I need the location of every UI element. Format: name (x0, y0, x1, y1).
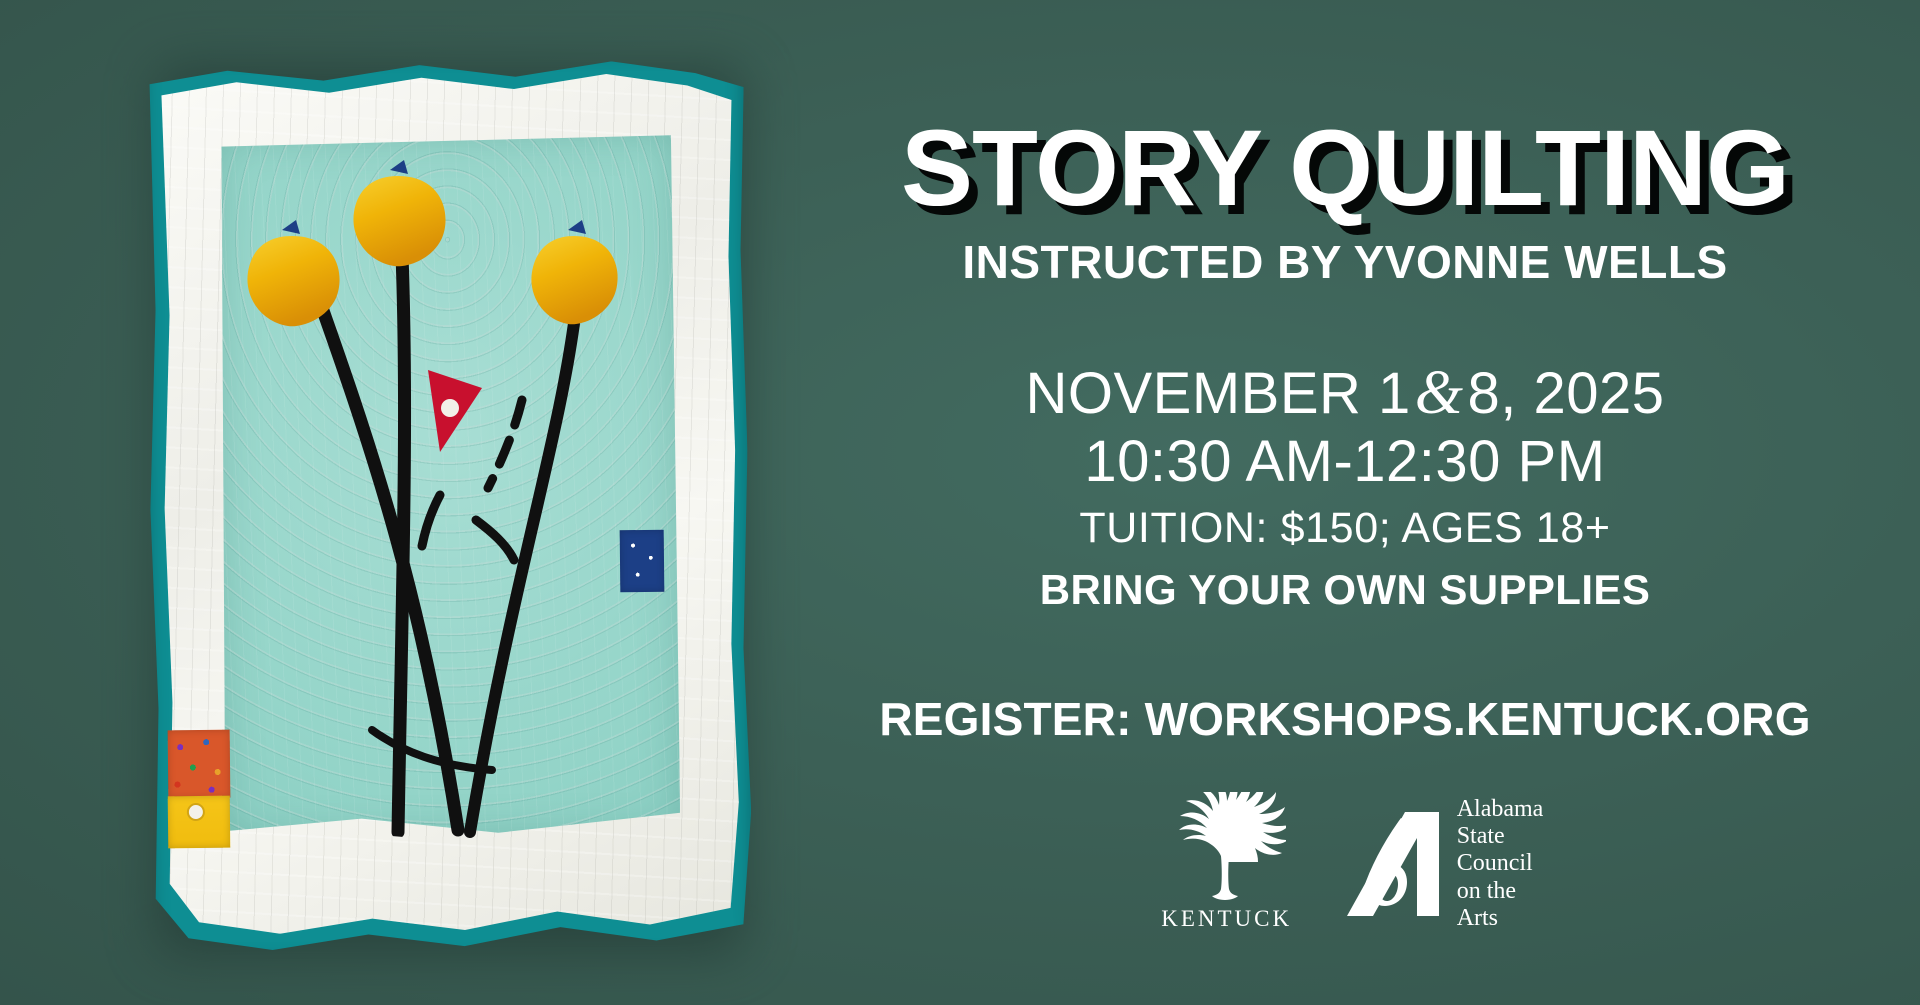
asca-wordmark: Alabama State Council on the Arts (1457, 796, 1544, 933)
quilt-stems (320, 255, 576, 832)
tuition-line: TUITION: $150; AGES 18+ (830, 503, 1860, 555)
asca-line-2: State (1457, 823, 1544, 850)
asca-line-3: Council (1457, 850, 1544, 877)
poster-canvas: STORY QUILTING INSTRUCTED BY YVONNE WELL… (0, 0, 1920, 1005)
date-suffix: 8, 2025 (1468, 361, 1665, 426)
kentuck-wordmark: KENTUCK (1161, 906, 1292, 932)
supplies-line: BRING YOUR OWN SUPPLIES (830, 566, 1860, 614)
workshop-details: NOVEMBER 1&8, 2025 10:30 AM-12:30 PM TUI… (830, 358, 1860, 614)
time-line: 10:30 AM-12:30 PM (830, 429, 1860, 495)
page-title: STORY QUILTING (830, 0, 1860, 220)
asca-monogram-icon (1343, 808, 1447, 920)
quilt-red-triangle (428, 370, 482, 452)
date-line: NOVEMBER 1&8, 2025 (830, 358, 1860, 429)
quilt-tulip-flowers (247, 160, 617, 326)
register-url[interactable]: REGISTER: WORKSHOPS.KENTUCK.ORG (830, 692, 1860, 746)
asca-line-1: Alabama (1457, 796, 1544, 823)
text-column: STORY QUILTING INSTRUCTED BY YVONNE WELL… (830, 0, 1860, 1005)
asca-line-4: on the (1457, 878, 1544, 905)
tree-icon (1168, 792, 1286, 904)
date-prefix: NOVEMBER 1 (1025, 361, 1410, 426)
alabama-state-council-logo: Alabama State Council on the Arts (1343, 796, 1544, 933)
quilt-applique-layer (140, 40, 760, 970)
kentuck-logo: KENTUCK (1147, 792, 1307, 932)
instructor-subtitle: INSTRUCTED BY YVONNE WELLS (830, 238, 1860, 286)
asca-line-5: Arts (1457, 905, 1544, 932)
ampersand-glyph: & (1411, 359, 1468, 427)
quilt-artwork (140, 40, 760, 970)
logo-row: KENTUCK Alabama State Council on the (830, 792, 1860, 932)
